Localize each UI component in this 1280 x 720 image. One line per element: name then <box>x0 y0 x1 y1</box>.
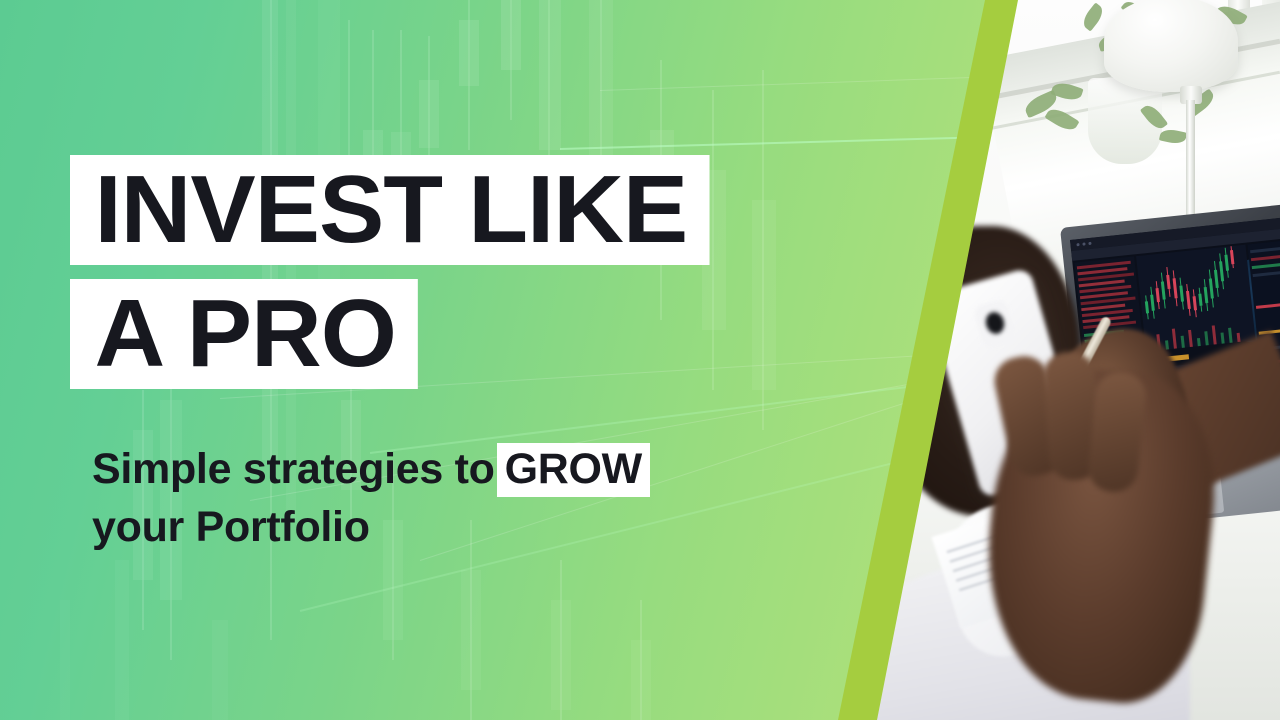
headline-block: INVEST LIKE A PRO <box>70 155 830 389</box>
candlestick-chart-widget <box>1136 245 1255 352</box>
headline-line-2-row: A PRO <box>70 279 830 389</box>
banner-canvas: INVEST LIKE A PRO Simple strategies toGR… <box>0 0 1280 720</box>
subtitle-block: Simple strategies toGROW your Portfolio <box>92 440 792 556</box>
subtitle-highlight-grow: GROW <box>497 443 650 497</box>
subtitle-text-after: your Portfolio <box>92 503 370 551</box>
desk-lamp-shade-icon <box>1104 0 1238 92</box>
headline-line-1-row: INVEST LIKE <box>70 155 830 265</box>
headline-line-1: INVEST LIKE <box>70 155 710 265</box>
headline-line-2: A PRO <box>70 279 418 389</box>
subtitle-text-before: Simple strategies to <box>92 445 495 493</box>
